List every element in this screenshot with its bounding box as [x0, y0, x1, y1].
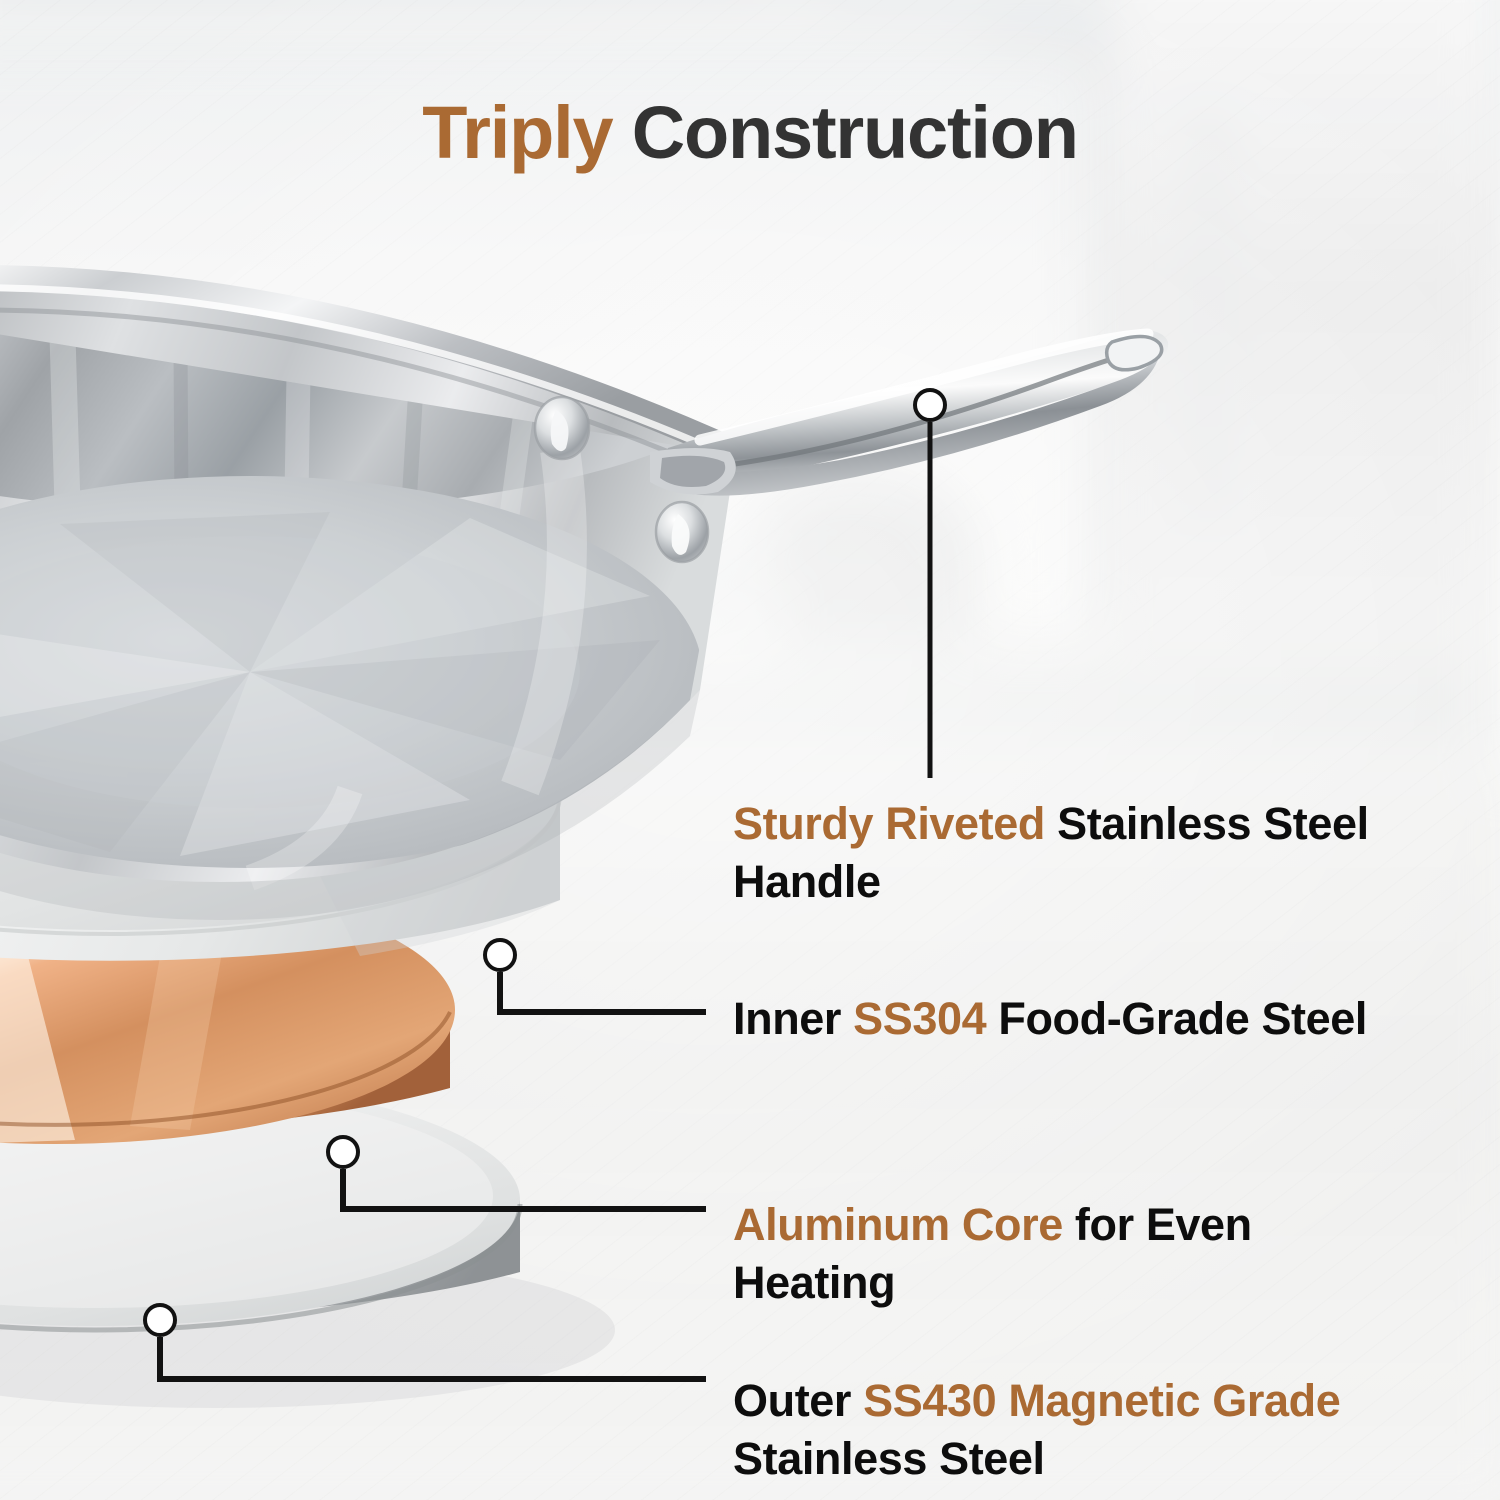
callout-dot-inner-steel[interactable] — [483, 938, 517, 972]
callout-label-aluminum-core: Aluminum Core for Even Heating — [733, 1196, 1373, 1312]
callout-4-dark-lead: Outer — [733, 1375, 863, 1426]
callout-3-accent: Aluminum Core — [733, 1199, 1063, 1250]
callout-label-handle: Sturdy Riveted Stainless Steel Handle — [733, 795, 1373, 911]
callout-dot-outer-steel[interactable] — [143, 1303, 177, 1337]
callout-label-inner-steel: Inner SS304 Food-Grade Steel — [733, 990, 1373, 1048]
callout-4-dark-tail: Stainless Steel — [733, 1433, 1045, 1484]
callout-2-dark-lead: Inner — [733, 993, 853, 1044]
callout-dot-handle[interactable] — [913, 388, 947, 422]
callout-2-dark-tail: Food-Grade Steel — [986, 993, 1367, 1044]
callout-1-accent: Sturdy Riveted — [733, 798, 1045, 849]
callout-label-outer-steel: Outer SS430 Magnetic Grade Stainless Ste… — [733, 1372, 1373, 1488]
infographic-canvas: Triply Construction — [0, 0, 1500, 1500]
callout-dot-aluminum-core[interactable] — [326, 1135, 360, 1169]
callout-4-accent: SS430 Magnetic Grade — [863, 1375, 1340, 1426]
callout-2-accent: SS304 — [853, 993, 986, 1044]
